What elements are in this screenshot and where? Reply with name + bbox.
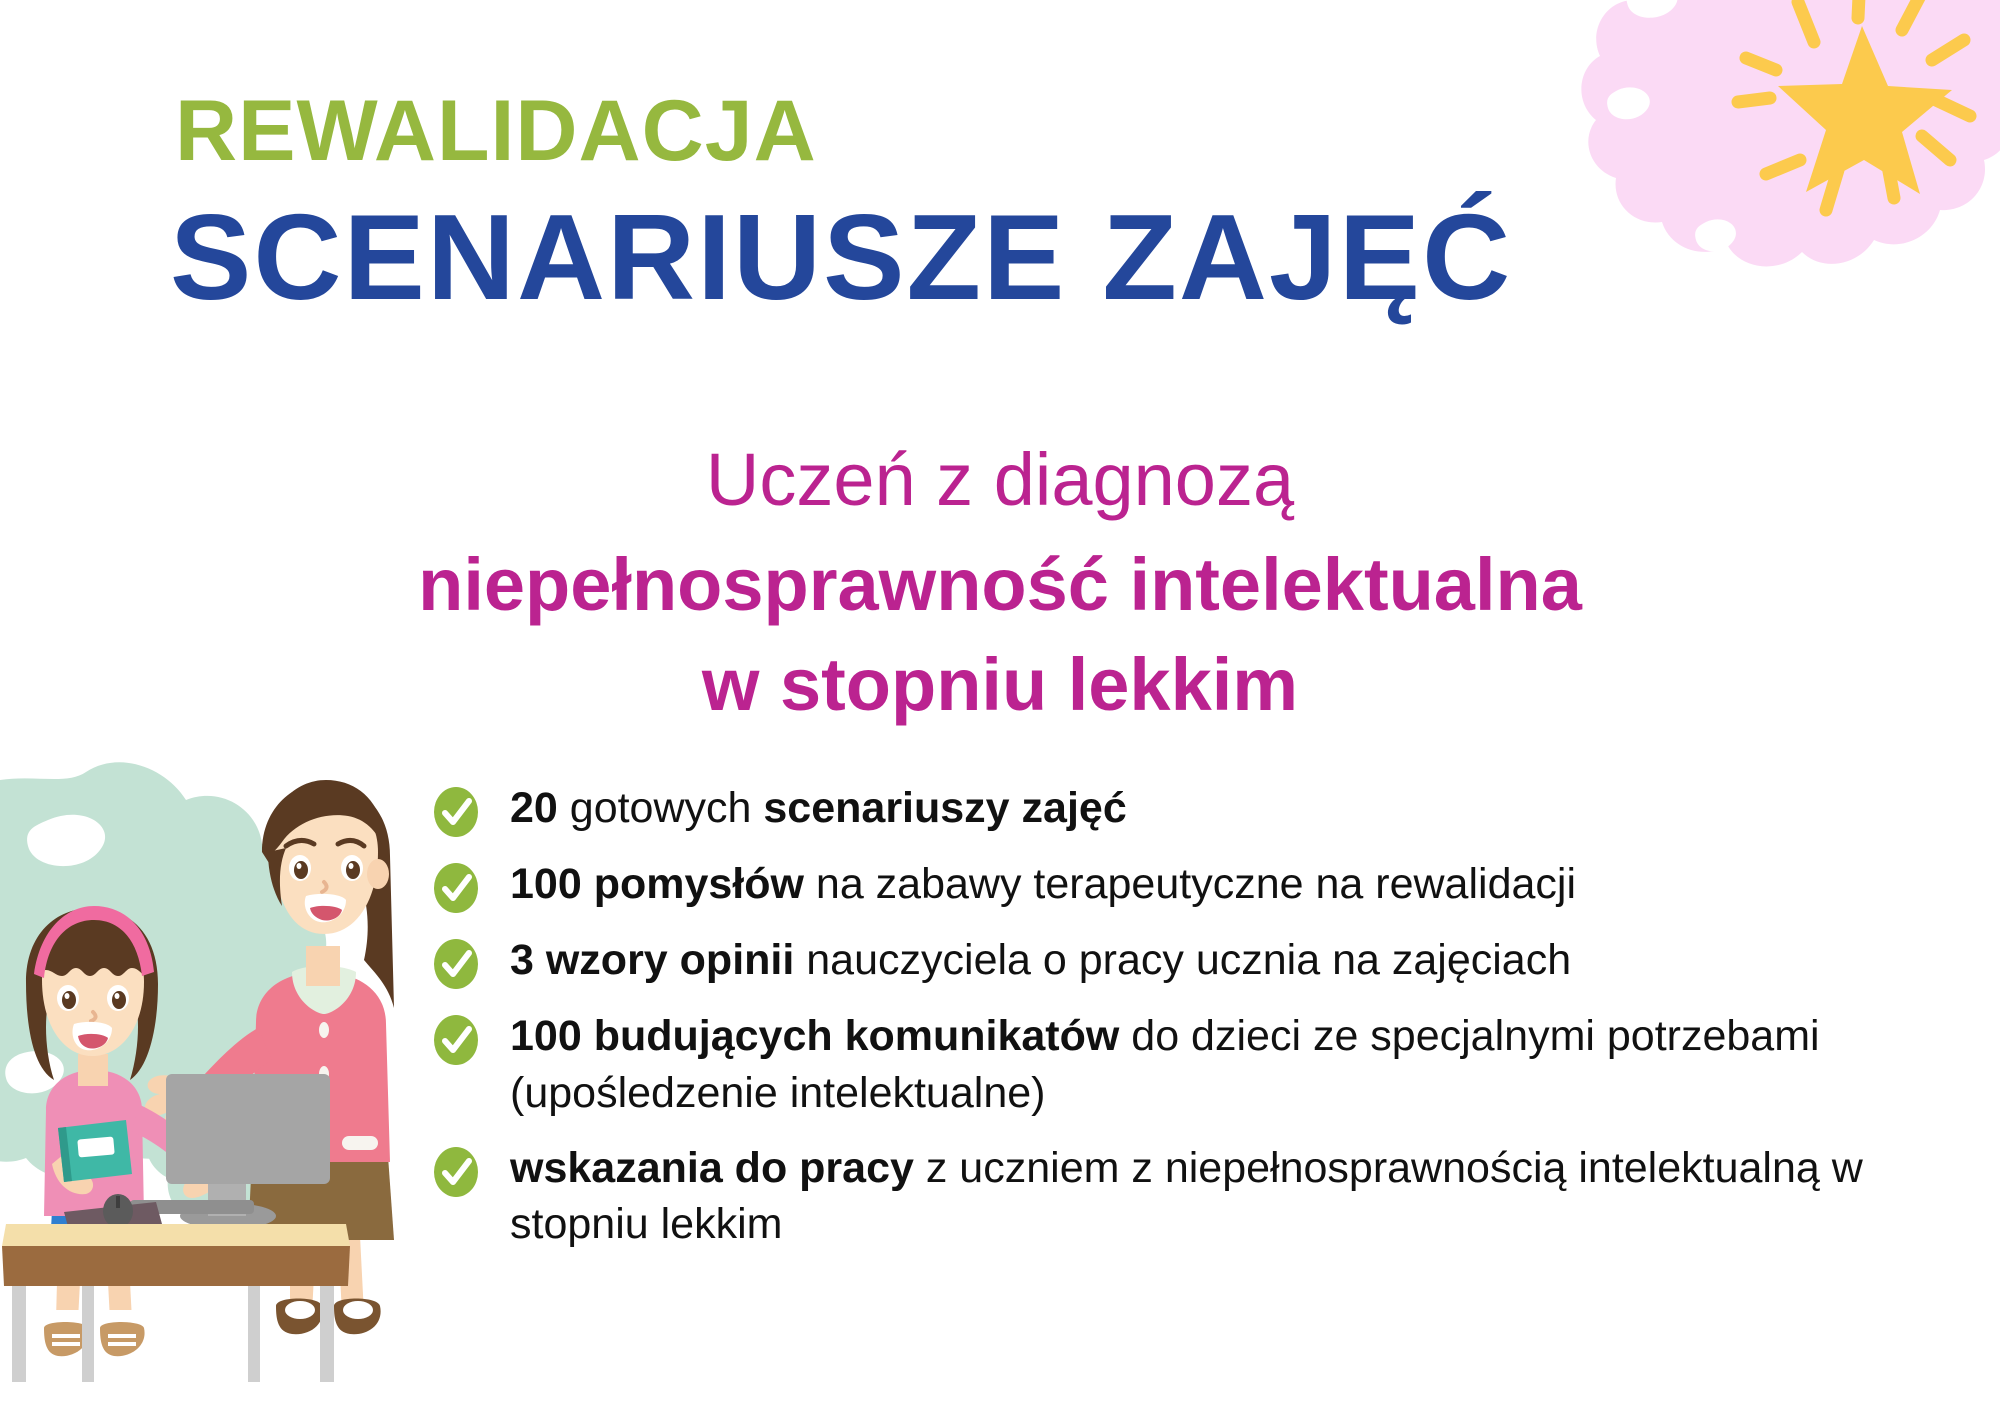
feature-item: 100 pomysłów na zabawy terapeutyczne na … <box>430 856 1950 914</box>
subtitle-line-2: niepełnosprawność intelektualna <box>0 545 2000 625</box>
pink-splash-shape <box>1581 0 2000 266</box>
check-circle-icon <box>430 1014 482 1066</box>
mint-brush-background <box>0 762 362 1323</box>
feature-item: 20 gotowych scenariuszy zajęć <box>430 780 1950 838</box>
page-title: SCENARIUSZE ZAJĘĆ <box>170 196 1512 318</box>
teacher-figure <box>145 780 394 1334</box>
feature-item-label: 3 wzory opinii nauczyciela o pracy uczni… <box>510 932 1571 989</box>
check-circle-icon <box>430 938 482 990</box>
student-figure <box>26 906 227 1356</box>
check-circle-icon <box>430 862 482 914</box>
teacher-and-student-at-computer-illustration <box>0 724 410 1414</box>
feature-item: 100 budujących komunikatów do dzieci ze … <box>430 1008 1950 1122</box>
feature-item-label: 100 budujących komunikatów do dzieci ze … <box>510 1008 1950 1122</box>
check-circle-icon <box>430 786 482 838</box>
subtitle-line-3: w stopniu lekkim <box>0 645 2000 725</box>
feature-item-label: wskazania do pracy z uczniem z niepełnos… <box>510 1140 1950 1254</box>
pink-brush-splash <box>1470 0 2000 330</box>
feature-list: 20 gotowych scenariuszy zajęć100 pomysłó… <box>430 780 1950 1271</box>
star-icon <box>1778 26 1952 194</box>
desk-and-computer <box>2 1074 350 1382</box>
feature-item-label: 20 gotowych scenariuszy zajęć <box>510 780 1127 837</box>
feature-item: 3 wzory opinii nauczyciela o pracy uczni… <box>430 932 1950 990</box>
sparkle-rays-icon <box>1738 0 1970 210</box>
check-circle-icon <box>430 1146 482 1198</box>
page-kicker: REWALIDACJA <box>175 88 817 174</box>
poster-canvas: REWALIDACJA SCENARIUSZE ZAJĘĆ Uczeń z di… <box>0 0 2000 1414</box>
feature-item-label: 100 pomysłów na zabawy terapeutyczne na … <box>510 856 1576 913</box>
subtitle-line-1: Uczeń z diagnozą <box>0 440 2000 520</box>
feature-item: wskazania do pracy z uczniem z niepełnos… <box>430 1140 1950 1254</box>
